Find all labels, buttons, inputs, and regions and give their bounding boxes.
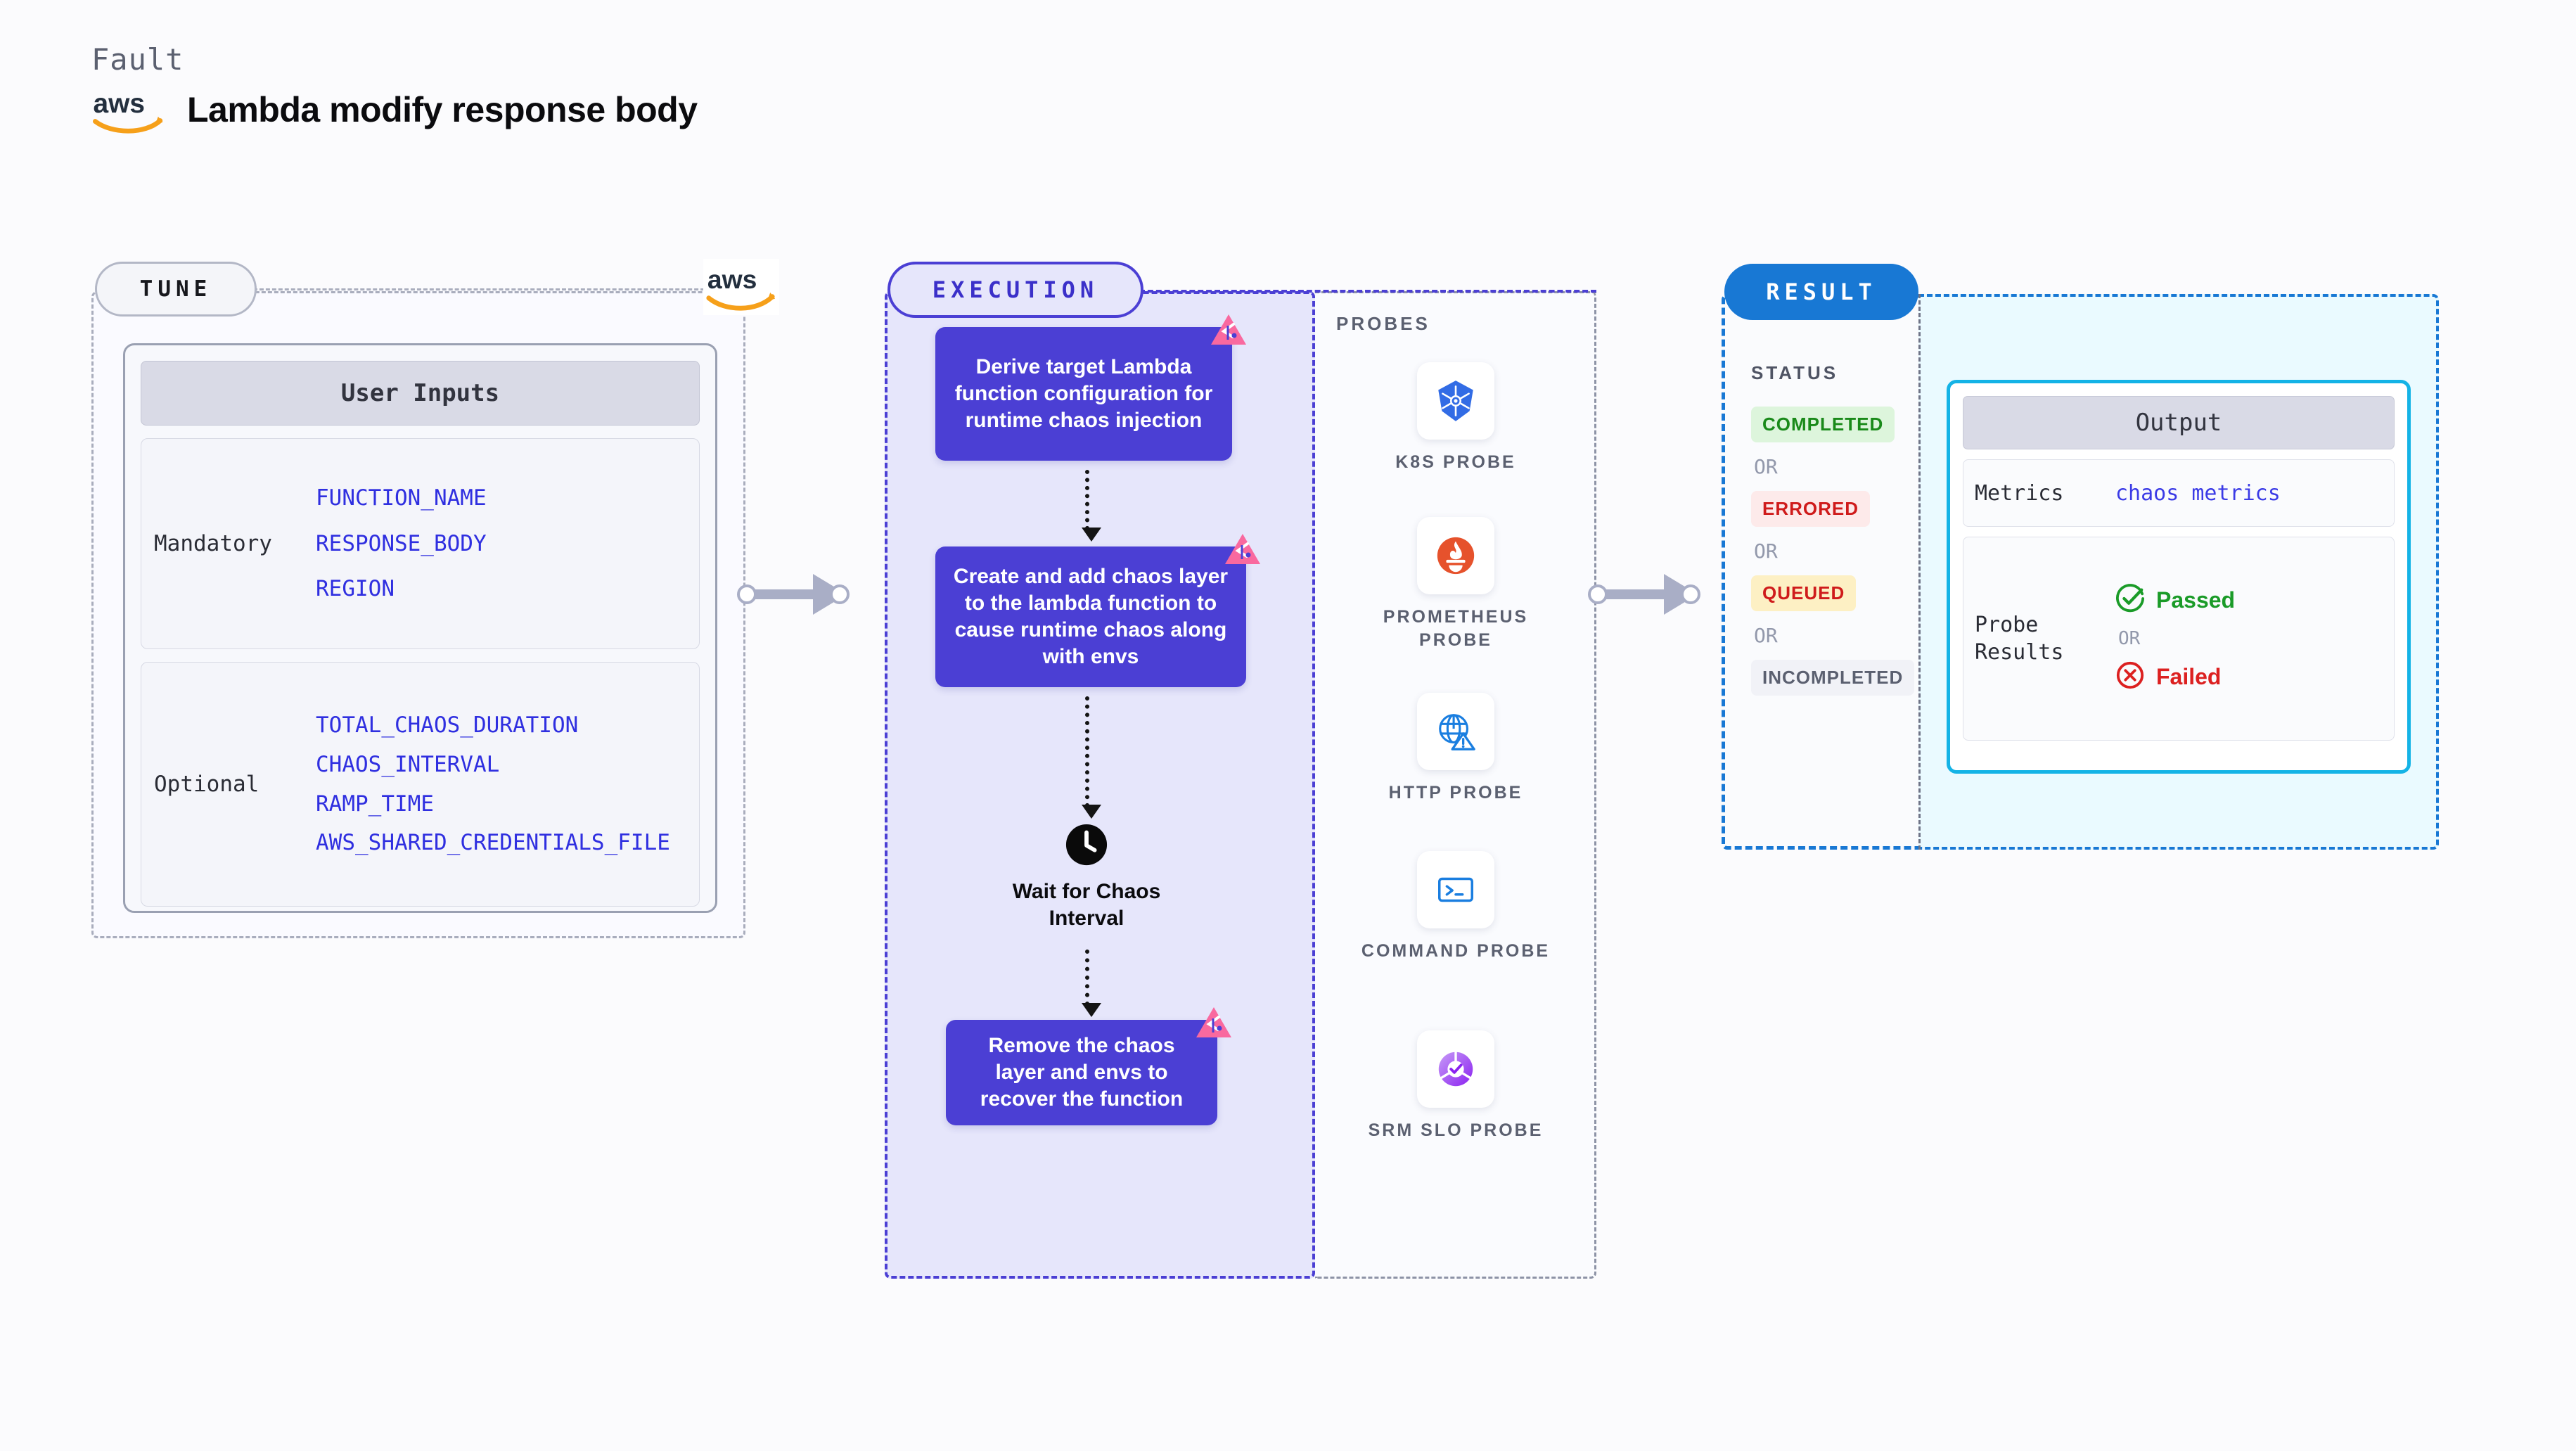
aws-logo-icon: aws — [91, 85, 167, 134]
clock-icon — [1065, 823, 1108, 870]
terminal-icon — [1417, 851, 1494, 928]
metrics-value: chaos metrics — [2115, 481, 2281, 506]
execution-step-box: Create and add chaos layer to the lambda… — [935, 546, 1246, 687]
param-item: RAMP_TIME — [316, 791, 692, 818]
probe-item-http[interactable]: HTTP PROBE — [1350, 693, 1561, 805]
probe-label: HTTP PROBE — [1350, 781, 1561, 805]
aws-logo-icon: aws — [703, 259, 779, 315]
failed-label: Failed — [2156, 664, 2221, 690]
param-item: FUNCTION_NAME — [316, 485, 692, 512]
chaos-badge-icon — [1210, 312, 1248, 350]
tune-pill-label: TUNE — [140, 276, 212, 302]
prometheus-icon — [1417, 517, 1494, 594]
metrics-row: Metrics chaos metrics — [1963, 459, 2395, 527]
status-or-label: OR — [1754, 624, 1920, 647]
passed-label: Passed — [2156, 587, 2235, 613]
execution-step-text: Create and add chaos layer to the lambda… — [952, 563, 1229, 670]
status-section-label: STATUS — [1751, 362, 1838, 384]
probe-item-command[interactable]: COMMAND PROBE — [1350, 851, 1561, 963]
flow-arrow — [1085, 470, 1089, 530]
status-or-label: OR — [1754, 455, 1920, 478]
status-badge: ERRORED — [1751, 491, 1870, 527]
execution-step-text: Derive target Lambda function configurat… — [952, 354, 1215, 433]
status-badge: QUEUED — [1751, 575, 1856, 611]
result-pill: RESULT — [1724, 264, 1918, 320]
chaos-badge-icon — [1224, 531, 1262, 569]
srm-slo-donut-check-icon — [1417, 1030, 1494, 1108]
param-item: CHAOS_INTERVAL — [316, 751, 692, 779]
svg-text:aws: aws — [707, 264, 757, 294]
mandatory-param-group: Mandatory FUNCTION_NAME RESPONSE_BODY RE… — [141, 438, 700, 649]
kubernetes-icon — [1417, 362, 1494, 440]
output-card: Output Metrics chaos metrics Probe Resul… — [1947, 380, 2411, 774]
probe-label: K8S PROBE — [1350, 451, 1561, 474]
x-circle-icon — [2115, 660, 2145, 693]
check-circle-icon — [2115, 584, 2145, 617]
execution-panel-top-dash — [1139, 290, 1596, 293]
status-badge: INCOMPLETED — [1751, 660, 1914, 696]
probe-label: COMMAND PROBE — [1350, 940, 1561, 963]
user-inputs-title: User Inputs — [141, 361, 700, 426]
probe-label: PROMETHEUS PROBE — [1350, 606, 1561, 651]
result-pill-label: RESULT — [1766, 279, 1877, 305]
probes-section-label: PROBES — [1336, 313, 1430, 335]
page-header: Fault aws Lambda modify response body — [91, 42, 698, 134]
wait-for-chaos-interval-node: Wait for Chaos Interval — [999, 823, 1174, 931]
svg-text:aws: aws — [93, 89, 144, 119]
status-or-label: OR — [1754, 539, 1920, 563]
execution-step-text: Remove the chaos layer and envs to recov… — [963, 1033, 1200, 1112]
status-badge: COMPLETED — [1751, 407, 1895, 442]
probe-item-k8s[interactable]: K8S PROBE — [1350, 362, 1561, 474]
optional-param-group: Optional TOTAL_CHAOS_DURATION CHAOS_INTE… — [141, 662, 700, 907]
param-item: RESPONSE_BODY — [316, 530, 692, 558]
probe-verdict-failed: Failed — [2115, 660, 2235, 693]
wait-node-label: Wait for Chaos Interval — [999, 878, 1174, 931]
execution-pill-label: EXECUTION — [933, 276, 1098, 303]
fault-label: Fault — [91, 42, 698, 77]
output-title: Output — [1963, 396, 2395, 449]
probe-item-prometheus[interactable]: PROMETHEUS PROBE — [1350, 517, 1561, 651]
execution-to-result-arrow — [1588, 570, 1700, 619]
param-item: TOTAL_CHAOS_DURATION — [316, 712, 692, 739]
user-inputs-card: User Inputs Mandatory FUNCTION_NAME RESP… — [123, 343, 717, 913]
probe-results-key: Probe Results — [1975, 611, 2115, 666]
execution-step-box: Derive target Lambda function configurat… — [935, 327, 1232, 461]
probe-results-row: Probe Results Passed OR — [1963, 537, 2395, 741]
http-globe-warning-icon — [1417, 693, 1494, 770]
verdict-or-label: OR — [2118, 628, 2235, 649]
execution-pill: EXECUTION — [887, 262, 1143, 318]
tune-panel-top-dash — [253, 288, 717, 290]
tune-pill: TUNE — [95, 262, 257, 317]
metrics-key: Metrics — [1975, 480, 2115, 507]
probe-item-srm-slo[interactable]: SRM SLO PROBE — [1350, 1030, 1561, 1142]
param-item: REGION — [316, 575, 692, 603]
page-title: Lambda modify response body — [187, 89, 698, 130]
execution-step-box: Remove the chaos layer and envs to recov… — [946, 1020, 1217, 1125]
probe-verdict-passed: Passed — [2115, 584, 2235, 617]
tune-to-execution-arrow — [737, 570, 850, 619]
status-badge-list: COMPLETED OR ERRORED OR QUEUED OR INCOMP… — [1751, 407, 1920, 696]
probe-label: SRM SLO PROBE — [1350, 1119, 1561, 1142]
param-group-kind: Optional — [154, 772, 316, 797]
flow-arrow — [1085, 950, 1089, 1006]
param-group-kind: Mandatory — [154, 531, 316, 556]
flow-arrow — [1085, 696, 1089, 807]
chaos-badge-icon — [1195, 1004, 1233, 1042]
result-panel-divider — [1918, 294, 1921, 850]
param-item: AWS_SHARED_CREDENTIALS_FILE — [316, 829, 692, 857]
